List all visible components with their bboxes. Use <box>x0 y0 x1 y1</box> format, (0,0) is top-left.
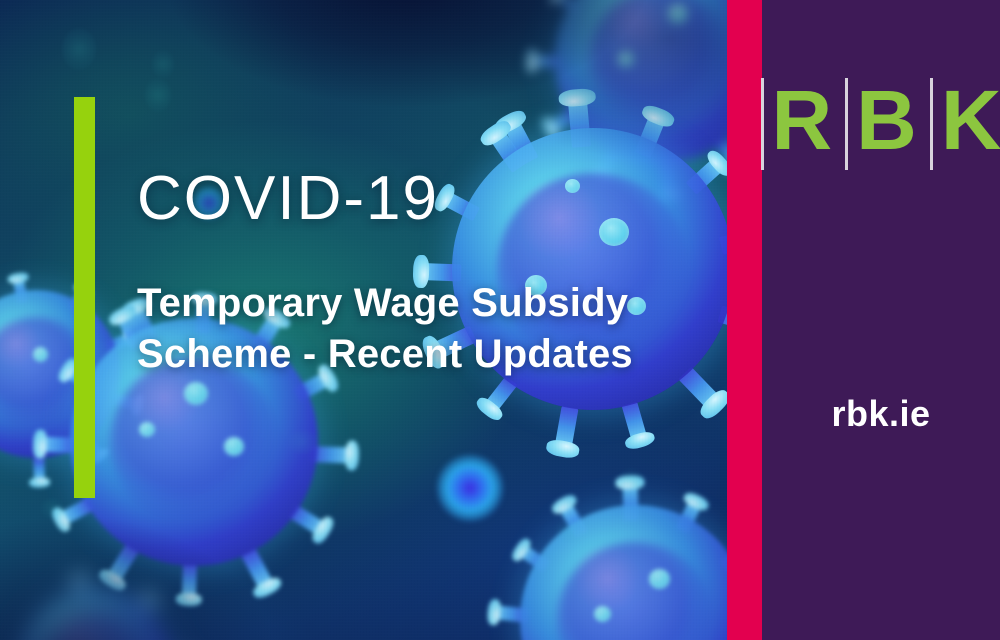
brand-panel: R B K rbk.ie <box>762 0 1000 640</box>
page-title: COVID-19 <box>137 168 717 230</box>
logo-letter-r: R <box>761 82 833 159</box>
website-url[interactable]: rbk.ie <box>762 393 1000 435</box>
green-accent-bar <box>74 97 95 498</box>
subtitle-line-1: Temporary Wage Subsidy <box>137 278 717 329</box>
subtitle-line-2: Scheme - Recent Updates <box>137 329 717 380</box>
logo-letter-b: B <box>845 82 917 159</box>
pink-divider-band <box>727 0 762 640</box>
covid-banner: COVID-19 Temporary Wage Subsidy Scheme -… <box>0 0 1000 640</box>
logo-letter-k: K <box>930 82 1000 159</box>
subtitle-block: Temporary Wage Subsidy Scheme - Recent U… <box>137 278 717 380</box>
headline-block: COVID-19 Temporary Wage Subsidy Scheme -… <box>137 168 717 380</box>
rbk-logo[interactable]: R B K <box>762 82 1000 159</box>
